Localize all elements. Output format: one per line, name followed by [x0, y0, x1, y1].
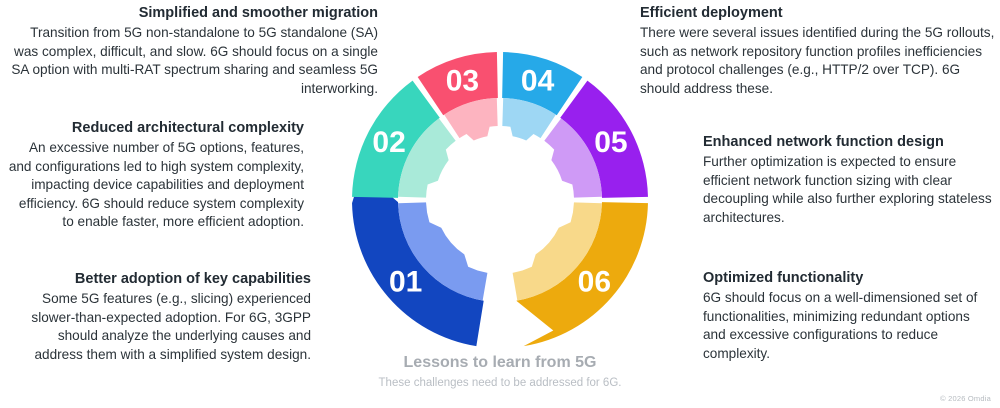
segment-number-05: 05 — [594, 126, 627, 159]
callout-06-body: 6G should focus on a well-dimensioned se… — [703, 289, 995, 363]
callout-03-title: Simplified and smoother migration — [8, 4, 378, 23]
callout-04-title: Efficient deployment — [640, 4, 995, 23]
callout-02-title: Reduced architectural complexity — [8, 119, 304, 138]
callout-05-body: Further optimization is expected to ensu… — [703, 153, 995, 227]
callout-05: Enhanced network function design Further… — [703, 133, 995, 227]
callout-02-body: An excessive number of 5G options, featu… — [8, 139, 304, 232]
center-caption-title: Lessons to learn from 5G — [330, 352, 670, 373]
ring-outer-segments — [352, 52, 648, 346]
callout-02: Reduced architectural complexity An exce… — [8, 119, 304, 232]
callout-01: Better adoption of key capabilities Some… — [8, 270, 311, 364]
center-caption-subtitle: These challenges need to be addressed fo… — [330, 375, 670, 391]
segment-number-02: 02 — [372, 126, 405, 159]
callout-05-title: Enhanced network function design — [703, 133, 995, 152]
callout-01-title: Better adoption of key capabilities — [8, 270, 311, 289]
callout-01-body: Some 5G features (e.g., slicing) experie… — [8, 290, 311, 364]
segment-number-01: 01 — [389, 266, 422, 299]
center-caption: Lessons to learn from 5G These challenge… — [330, 352, 670, 391]
ring-inner-segments — [398, 98, 602, 300]
donut-ring-diagram: 010203040506 — [295, 48, 705, 388]
segment-number-06: 06 — [578, 266, 611, 299]
infographic-canvas: Simplified and smoother migration Transi… — [0, 0, 1000, 408]
callout-06: Optimized functionality 6G should focus … — [703, 269, 995, 363]
copyright-notice: © 2026 Omdia — [940, 394, 991, 403]
callout-06-title: Optimized functionality — [703, 269, 995, 288]
segment-number-04: 04 — [521, 64, 555, 97]
segment-number-03: 03 — [446, 64, 479, 97]
